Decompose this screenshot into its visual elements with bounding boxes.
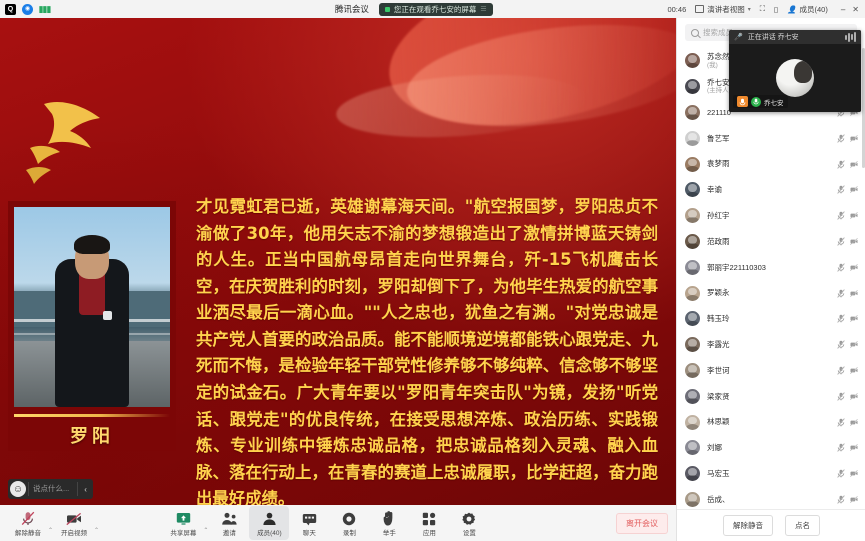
mic-muted-icon[interactable] (837, 340, 845, 349)
participant-status-icons (837, 314, 858, 323)
active-speaker-header: 🎤 正在讲话 乔七安 (729, 30, 861, 44)
camera-toggle-button[interactable]: 开启视频 (54, 506, 94, 540)
participant-meta: 鲁艺军 (707, 134, 830, 143)
signal-bars-icon: ▮▮▮ (39, 4, 50, 15)
participant-name: 李世诃 (707, 366, 830, 375)
avatar (685, 337, 700, 352)
participant-meta: 郭丽宇221110303 (707, 263, 830, 272)
layout-grid-icon (695, 5, 704, 13)
participant-name: 罗颖永 (707, 288, 830, 297)
speaker-name: 罗阳 (14, 422, 170, 448)
app-title: 腾讯会议 (335, 3, 369, 15)
participant-name: 李露光 (707, 340, 830, 349)
speaker-photo (14, 207, 170, 407)
participant-status-icons (837, 134, 858, 143)
share-options-chevron-icon[interactable]: ⌃ (203, 527, 208, 534)
camera-off-icon[interactable] (850, 418, 858, 427)
settings-icon (462, 510, 476, 526)
participant-meta: 罗颖永 (707, 288, 830, 297)
mic-muted-icon[interactable] (837, 418, 845, 427)
camera-off-icon[interactable] (850, 314, 858, 323)
participant-row[interactable]: 林思颖 (677, 409, 865, 435)
participant-meta: 幸谕 (707, 185, 830, 194)
participant-name: 岳成、 (707, 495, 830, 504)
participants-list[interactable]: 苏念然(我)乔七安(主持人)221110鲁艺军袁梦雨幸谕孙红宇范政雨郭丽宇221… (677, 48, 865, 527)
view-mode-selector[interactable]: 演讲者视图 ▾ (695, 4, 751, 15)
titlebar-left-icons: Q ◉ ▮▮▮ (0, 4, 160, 15)
toolbar-left-group: 解除静音 ⌃ 开启视频 ⌃ (0, 506, 100, 540)
members-button[interactable]: 成员(40) (249, 506, 289, 540)
active-speaker-label: 正在讲话 乔七安 (748, 32, 799, 42)
avatar (685, 79, 700, 94)
members-count[interactable]: 👤 成员(40) (787, 4, 828, 15)
presentation-slide: 罗阳 才见霓虹君已逝，英雄谢幕海天间。"航空报国梦，罗阳忠贞不渝做了30年，他用… (0, 18, 676, 505)
recording-dot-icon (385, 7, 390, 12)
avatar (685, 53, 700, 68)
camera-off-icon[interactable] (850, 392, 858, 401)
settings-label: 设置 (463, 527, 476, 537)
avatar (685, 363, 700, 378)
record-icon (342, 510, 356, 526)
camera-off-icon[interactable] (850, 211, 858, 220)
rollcall-button[interactable]: 点名 (785, 515, 820, 536)
mic-muted-icon[interactable] (837, 160, 845, 169)
members-icon (262, 510, 277, 526)
mic-toggle-button[interactable]: 解除静音 (8, 506, 48, 540)
participant-name: 鲁艺军 (707, 134, 830, 143)
mic-muted-icon[interactable] (837, 366, 845, 375)
participant-name: 韩玉玲 (707, 314, 830, 323)
apps-label: 应用 (423, 527, 436, 537)
tencent-meeting-window: Q ◉ ▮▮▮ 腾讯会议 您正在观看乔七安的屏幕 ☰ 00:46 演讲者视图 ▾… (0, 0, 865, 541)
active-speaker-thumbnail[interactable]: 🎤 正在讲话 乔七安 乔七安 (729, 30, 861, 112)
participant-meta: 李世诃 (707, 366, 830, 375)
participant-meta: 李露光 (707, 340, 830, 349)
participant-row[interactable]: 罗颖永 (677, 280, 865, 306)
participant-meta: 刘娜 (707, 443, 830, 452)
titlebar-center: 腾讯会议 您正在观看乔七安的屏幕 ☰ (160, 3, 667, 16)
mic-muted-icon[interactable] (837, 289, 845, 298)
participant-status-icons (837, 469, 858, 478)
view-mode-label: 演讲者视图 (707, 4, 745, 15)
unmute-all-button[interactable]: 解除静音 (723, 515, 773, 536)
avatar (685, 466, 700, 481)
settings-button[interactable]: 设置 (449, 506, 489, 540)
invite-icon (221, 510, 238, 526)
members-count-label: 成员(40) (800, 4, 828, 15)
participant-status-icons (837, 495, 858, 504)
participant-status-icons (837, 237, 858, 246)
participant-row[interactable]: 郭丽宇221110303 (677, 254, 865, 280)
participant-name: 孙红宇 (707, 211, 830, 220)
participant-row[interactable]: 孙红宇 (677, 203, 865, 229)
toolbar-right-group: 离开会议 (616, 513, 676, 534)
raise-hand-button[interactable]: 举手 (369, 506, 409, 540)
camera-off-icon[interactable] (850, 443, 858, 452)
members-label: 成员(40) (257, 527, 282, 537)
minimize-button[interactable]: – (841, 5, 845, 14)
participant-row[interactable]: 韩玉玲 (677, 306, 865, 332)
avatar (685, 157, 700, 172)
avatar (685, 311, 700, 326)
active-speaker-name-tag: 乔七安 (733, 95, 788, 108)
photo-person-hair (74, 235, 110, 254)
participant-name: 郭丽宇221110303 (707, 263, 830, 272)
avatar (685, 208, 700, 223)
camera-off-icon[interactable] (850, 366, 858, 375)
participant-row[interactable]: 刘娜 (677, 435, 865, 461)
leave-meeting-button[interactable]: 离开会议 (616, 513, 668, 534)
participant-status-icons (837, 211, 858, 220)
chat-icon (302, 510, 317, 526)
participant-name: 范政雨 (707, 237, 830, 246)
participant-status-icons (837, 443, 858, 452)
participant-meta: 岳成、 (707, 495, 830, 504)
mic-muted-icon[interactable] (837, 237, 845, 246)
invite-button[interactable]: 邀请 (209, 506, 249, 540)
screen-share-banner: 您正在观看乔七安的屏幕 ☰ (379, 3, 493, 16)
active-speaker-tag-name: 乔七安 (764, 97, 784, 107)
active-speaker-video: 乔七安 (729, 44, 861, 112)
window-controls: – ✕ (841, 5, 859, 14)
sidebar-toggle-icon[interactable]: ▯ (774, 5, 778, 14)
banner-menu-icon[interactable]: ☰ (480, 5, 486, 13)
participant-name: 袁梦雨 (707, 159, 830, 168)
mic-icon: 🎤 (734, 33, 743, 41)
invite-label: 邀请 (223, 527, 236, 537)
raise-hand-icon (383, 510, 395, 526)
mic-muted-icon[interactable] (837, 134, 845, 143)
speaker-photo-card: 罗阳 (8, 201, 176, 451)
avatar (685, 415, 700, 430)
chat-input[interactable]: 说点什么... (28, 482, 78, 496)
mic-orange-icon (737, 96, 748, 107)
participant-name: 梁家贤 (707, 392, 830, 401)
search-icon (691, 29, 699, 37)
camera-off-icon[interactable] (850, 263, 858, 272)
participant-status-icons (837, 418, 858, 427)
participant-status-icons (837, 392, 858, 401)
emoji-icon[interactable]: ☺ (10, 481, 26, 497)
gold-divider (14, 414, 170, 417)
participant-status-icons (837, 340, 858, 349)
mic-options-chevron-icon[interactable]: ⌃ (48, 527, 53, 534)
participant-meta: 孙红宇 (707, 211, 830, 220)
blue-app-icon[interactable]: ◉ (22, 4, 33, 15)
avatar (685, 131, 700, 146)
raise-hand-label: 举手 (383, 527, 396, 537)
camera-off-icon[interactable] (850, 340, 858, 349)
fullscreen-icon[interactable]: ⛶ (760, 4, 765, 14)
mic-muted-icon[interactable] (837, 392, 845, 401)
avatar (776, 59, 814, 97)
record-button[interactable]: 录制 (329, 506, 369, 540)
participant-meta: 韩玉玲 (707, 314, 830, 323)
avatar (685, 440, 700, 455)
mic-muted-icon (21, 510, 35, 526)
avatar (685, 182, 700, 197)
avatar (685, 234, 700, 249)
meeting-timer: 00:46 (667, 5, 686, 14)
participant-status-icons (837, 160, 858, 169)
mic-toggle-label: 解除静音 (15, 527, 41, 537)
record-label: 录制 (343, 527, 356, 537)
chat-button[interactable]: 聊天 (289, 506, 329, 540)
titlebar-right: 00:46 演讲者视图 ▾ ⛶ ▯ 👤 成员(40) – ✕ (667, 4, 865, 15)
avatar (685, 389, 700, 404)
camera-off-icon[interactable] (850, 289, 858, 298)
participant-row[interactable]: 李露光 (677, 332, 865, 358)
camera-off-icon[interactable] (850, 134, 858, 143)
apps-icon (422, 510, 436, 526)
camera-toggle-label: 开启视频 (61, 527, 87, 537)
avatar (685, 492, 700, 507)
participant-row[interactable]: 袁梦雨 (677, 151, 865, 177)
participant-row[interactable]: 幸谕 (677, 177, 865, 203)
qq-icon[interactable]: Q (5, 4, 16, 15)
red-ribbon-decoration-3 (334, 67, 588, 144)
avatar (685, 105, 700, 120)
chevron-down-icon: ▾ (748, 6, 751, 13)
mic-muted-icon[interactable] (837, 469, 845, 478)
chat-label: 聊天 (303, 527, 316, 537)
participant-status-icons (837, 185, 858, 194)
participant-name: 刘娜 (707, 443, 830, 452)
participant-meta: 梁家贤 (707, 392, 830, 401)
participant-name: 林思颖 (707, 417, 830, 426)
participants-panel-footer: 解除静音 点名 (677, 509, 865, 541)
avatar (685, 286, 700, 301)
participant-status-icons (837, 263, 858, 272)
toolbar-middle-group: 共享屏幕 ⌃ 邀请 (163, 506, 489, 540)
photo-jacket-logo (103, 311, 112, 320)
shared-screen-stage[interactable]: 罗阳 才见霓虹君已逝，英雄谢幕海天间。"航空报国梦，罗阳忠贞不渝做了30年，他用… (0, 18, 676, 505)
mic-muted-icon[interactable] (837, 263, 845, 272)
screen-share-text: 您正在观看乔七安的屏幕 (394, 4, 477, 15)
mic-muted-icon[interactable] (837, 443, 845, 452)
mic-muted-icon[interactable] (837, 314, 845, 323)
person-icon: 👤 (787, 5, 796, 14)
participant-status-icons (837, 289, 858, 298)
participant-row[interactable]: 范政雨 (677, 229, 865, 255)
participant-row[interactable]: 梁家贤 (677, 383, 865, 409)
participant-row[interactable]: 鲁艺军 (677, 125, 865, 151)
mic-muted-icon[interactable] (837, 185, 845, 194)
camera-off-icon (66, 510, 82, 526)
camera-options-chevron-icon[interactable]: ⌃ (94, 527, 99, 534)
window-title-bar: Q ◉ ▮▮▮ 腾讯会议 您正在观看乔七安的屏幕 ☰ 00:46 演讲者视图 ▾… (0, 0, 865, 18)
camera-off-icon[interactable] (850, 469, 858, 478)
audio-wave-icon (845, 32, 856, 42)
share-screen-label: 共享屏幕 (170, 527, 196, 537)
participant-meta: 袁梦雨 (707, 159, 830, 168)
close-button[interactable]: ✕ (852, 5, 859, 14)
participant-status-icons (837, 366, 858, 375)
slide-body-text: 才见霓虹君已逝，英雄谢幕海天间。"航空报国梦，罗阳忠贞不渝做了30年，他用矢志不… (196, 194, 658, 505)
participant-meta: 马宏玉 (707, 469, 830, 478)
camera-off-icon[interactable] (850, 160, 858, 169)
camera-off-icon[interactable] (850, 237, 858, 246)
participant-meta: 林思颖 (707, 417, 830, 426)
camera-off-icon[interactable] (850, 495, 858, 504)
meeting-toolbar: 解除静音 ⌃ 开启视频 ⌃ (0, 505, 676, 541)
participant-row[interactable]: 马宏玉 (677, 461, 865, 487)
mic-muted-icon[interactable] (837, 211, 845, 220)
floating-chat-bar[interactable]: ☺ 说点什么... ‹ (8, 479, 93, 499)
participant-name: 马宏玉 (707, 469, 830, 478)
gold-dove-emblem-icon (18, 96, 123, 191)
collapse-chat-icon[interactable]: ‹ (80, 485, 91, 494)
mic-muted-icon[interactable] (837, 495, 845, 504)
participant-meta: 范政雨 (707, 237, 830, 246)
apps-button[interactable]: 应用 (409, 506, 449, 540)
camera-off-icon[interactable] (850, 185, 858, 194)
participant-name: 幸谕 (707, 185, 830, 194)
share-screen-button[interactable]: 共享屏幕 (163, 506, 203, 540)
participant-row[interactable]: 李世诃 (677, 358, 865, 384)
share-screen-icon (176, 510, 191, 526)
avatar (685, 260, 700, 275)
mic-green-icon (751, 97, 761, 107)
